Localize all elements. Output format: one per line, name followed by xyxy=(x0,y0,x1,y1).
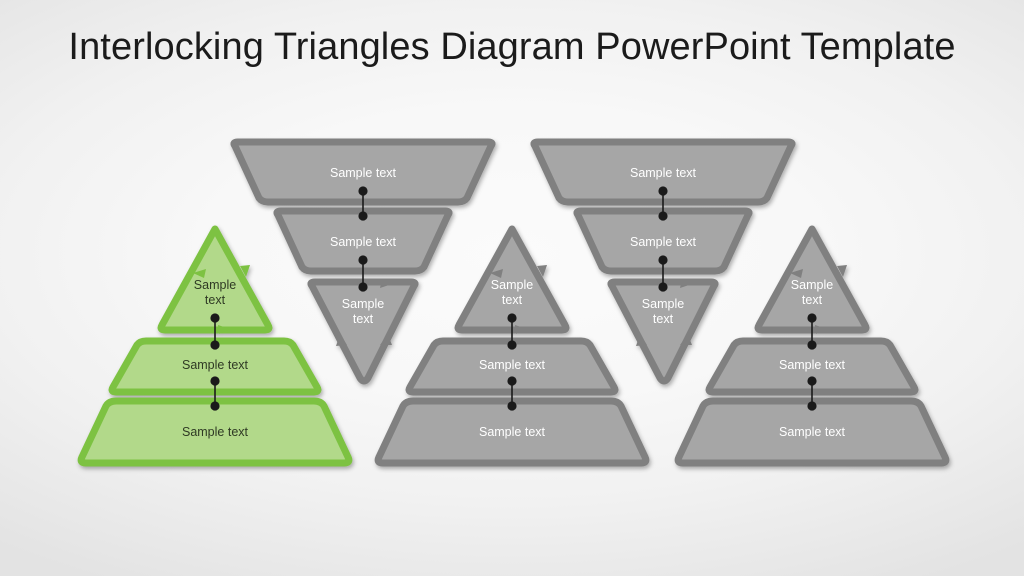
connector-dot xyxy=(358,255,367,264)
connector-dot xyxy=(210,376,219,385)
connector-dot xyxy=(807,313,816,322)
connector-dot xyxy=(507,313,516,322)
diagram-canvas xyxy=(0,0,1024,576)
connector-dot xyxy=(807,340,816,349)
slide: Interlocking Triangles Diagram PowerPoin… xyxy=(0,0,1024,576)
pyramid-4-segment-3[interactable] xyxy=(611,279,715,381)
connector-dot xyxy=(507,340,516,349)
connector-dot xyxy=(658,186,667,195)
connector-dot xyxy=(507,376,516,385)
connector-dot xyxy=(358,282,367,291)
pyramid-4-segment-3-shape xyxy=(611,282,715,381)
interlocking-triangles-diagram: Sample text Sample text Sample text Samp… xyxy=(0,0,1024,576)
connector-dot xyxy=(210,340,219,349)
connector-dot xyxy=(807,376,816,385)
connector-dot xyxy=(358,186,367,195)
pyramid-2-segment-3[interactable] xyxy=(311,279,415,381)
pyramid-2-segment-3-shape xyxy=(311,282,415,381)
connector-dot xyxy=(358,211,367,220)
connector-dot xyxy=(658,255,667,264)
connector-dot xyxy=(210,313,219,322)
connector-dot xyxy=(807,401,816,410)
connector-dot xyxy=(658,211,667,220)
connector-dot xyxy=(210,401,219,410)
connector-dot xyxy=(658,282,667,291)
connector-dot xyxy=(507,401,516,410)
